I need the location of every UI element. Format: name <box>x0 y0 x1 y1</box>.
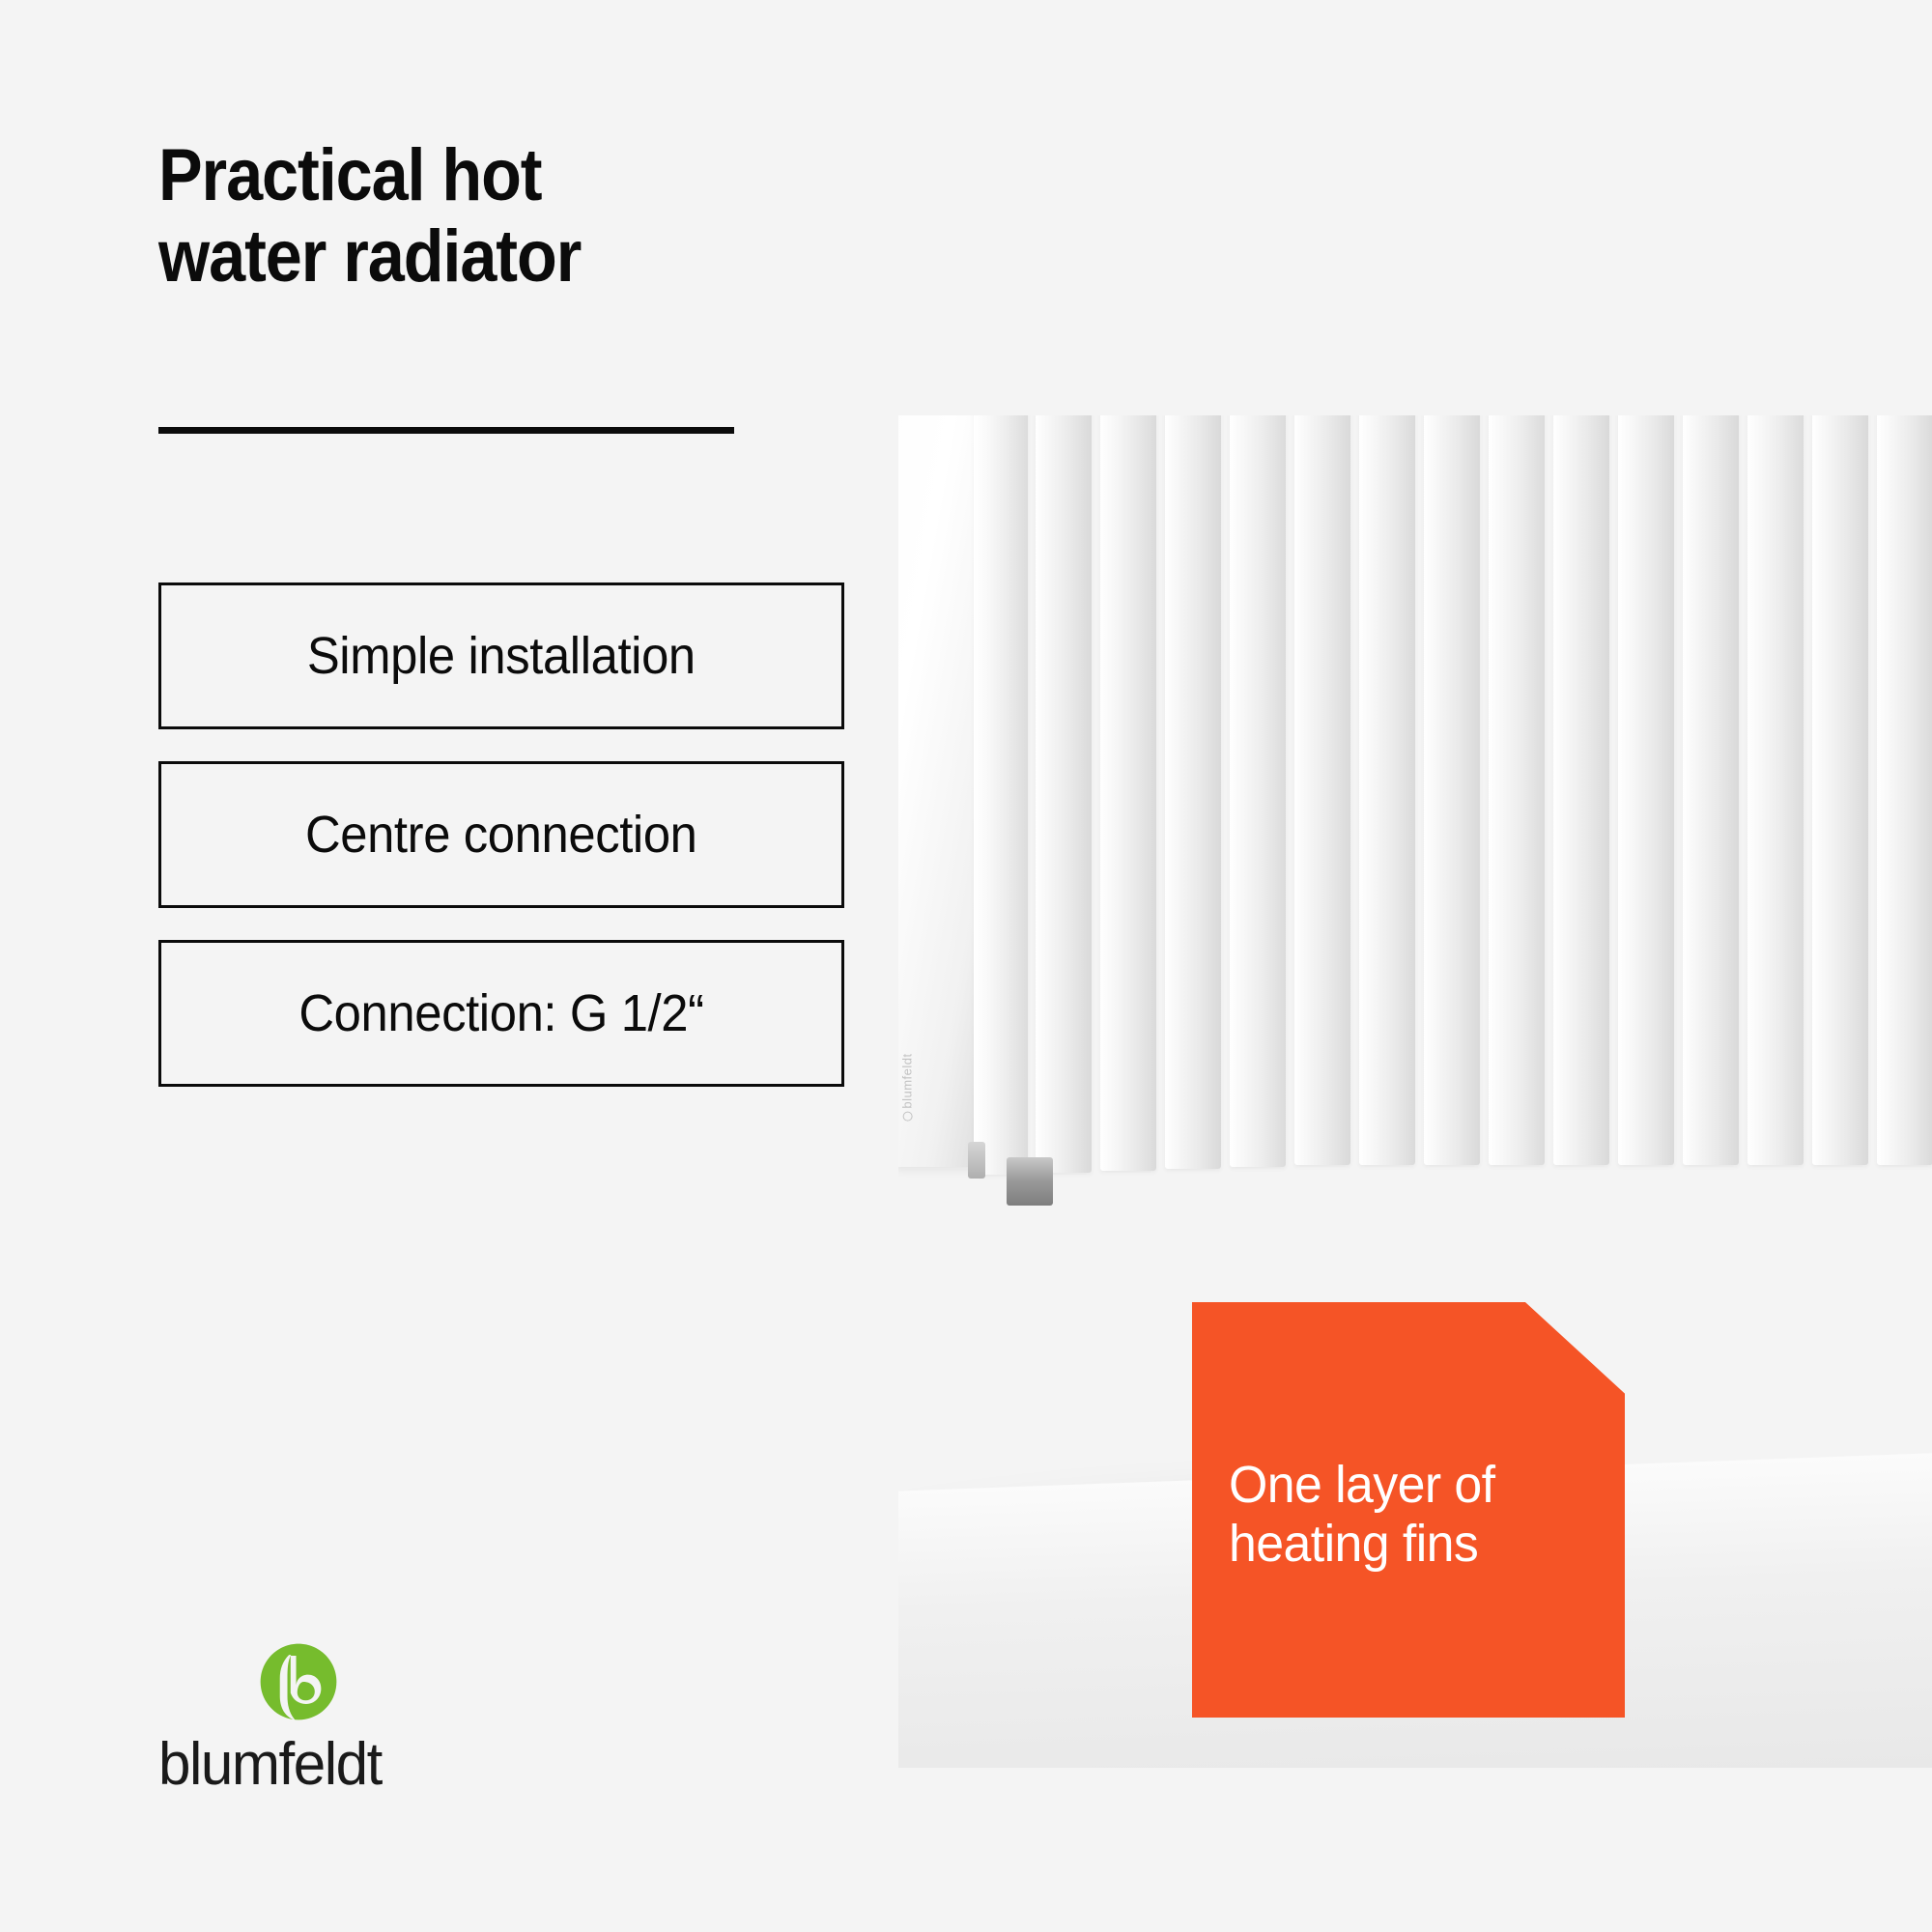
product-marketing-card: Practical hot water radiator Simple inst… <box>0 0 1932 1932</box>
radiator-fin <box>1553 415 1609 1165</box>
radiator-fin <box>1877 415 1932 1165</box>
radiator-fin <box>1294 415 1350 1165</box>
page-title: Practical hot water radiator <box>158 135 871 297</box>
radiator-fin <box>1747 415 1804 1165</box>
radiator-valve-connector <box>1007 1157 1053 1206</box>
radiator-fin <box>1424 415 1480 1165</box>
feature-box-centre-connection: Centre connection <box>158 761 844 908</box>
radiator-fin <box>1359 415 1415 1165</box>
product-watermark: blumfeldt <box>900 1053 915 1121</box>
radiator-fin <box>1100 415 1156 1171</box>
radiator-fin <box>1683 415 1739 1165</box>
feature-label: Simple installation <box>307 630 696 682</box>
radiator-fin <box>1230 415 1286 1167</box>
radiator-fin <box>1489 415 1545 1165</box>
title-divider <box>158 427 734 434</box>
watermark-text: blumfeldt <box>900 1053 915 1108</box>
radiator-fin <box>1812 415 1868 1165</box>
radiator-fin <box>1036 415 1092 1173</box>
radiator-fin <box>1165 415 1221 1169</box>
feature-list: Simple installation Centre connection Co… <box>158 582 844 1119</box>
feature-box-connection-size: Connection: G 1/2“ <box>158 940 844 1087</box>
blumfeldt-leaf-icon <box>259 1642 338 1721</box>
watermark-logo-icon <box>903 1112 913 1122</box>
radiator-valve-pipe <box>968 1142 985 1179</box>
brand-logo: blumfeldt <box>158 1642 477 1795</box>
radiator-fin <box>974 415 1028 1175</box>
callout-label: One layer of heating fins <box>1229 1456 1600 1574</box>
feature-label: Connection: G 1/2“ <box>298 987 703 1039</box>
brand-wordmark: blumfeldt <box>158 1735 468 1795</box>
feature-label: Centre connection <box>305 809 697 861</box>
callout-badge: One layer of heating fins <box>1192 1302 1625 1718</box>
radiator-fin <box>1618 415 1674 1165</box>
feature-box-simple-installation: Simple installation <box>158 582 844 729</box>
